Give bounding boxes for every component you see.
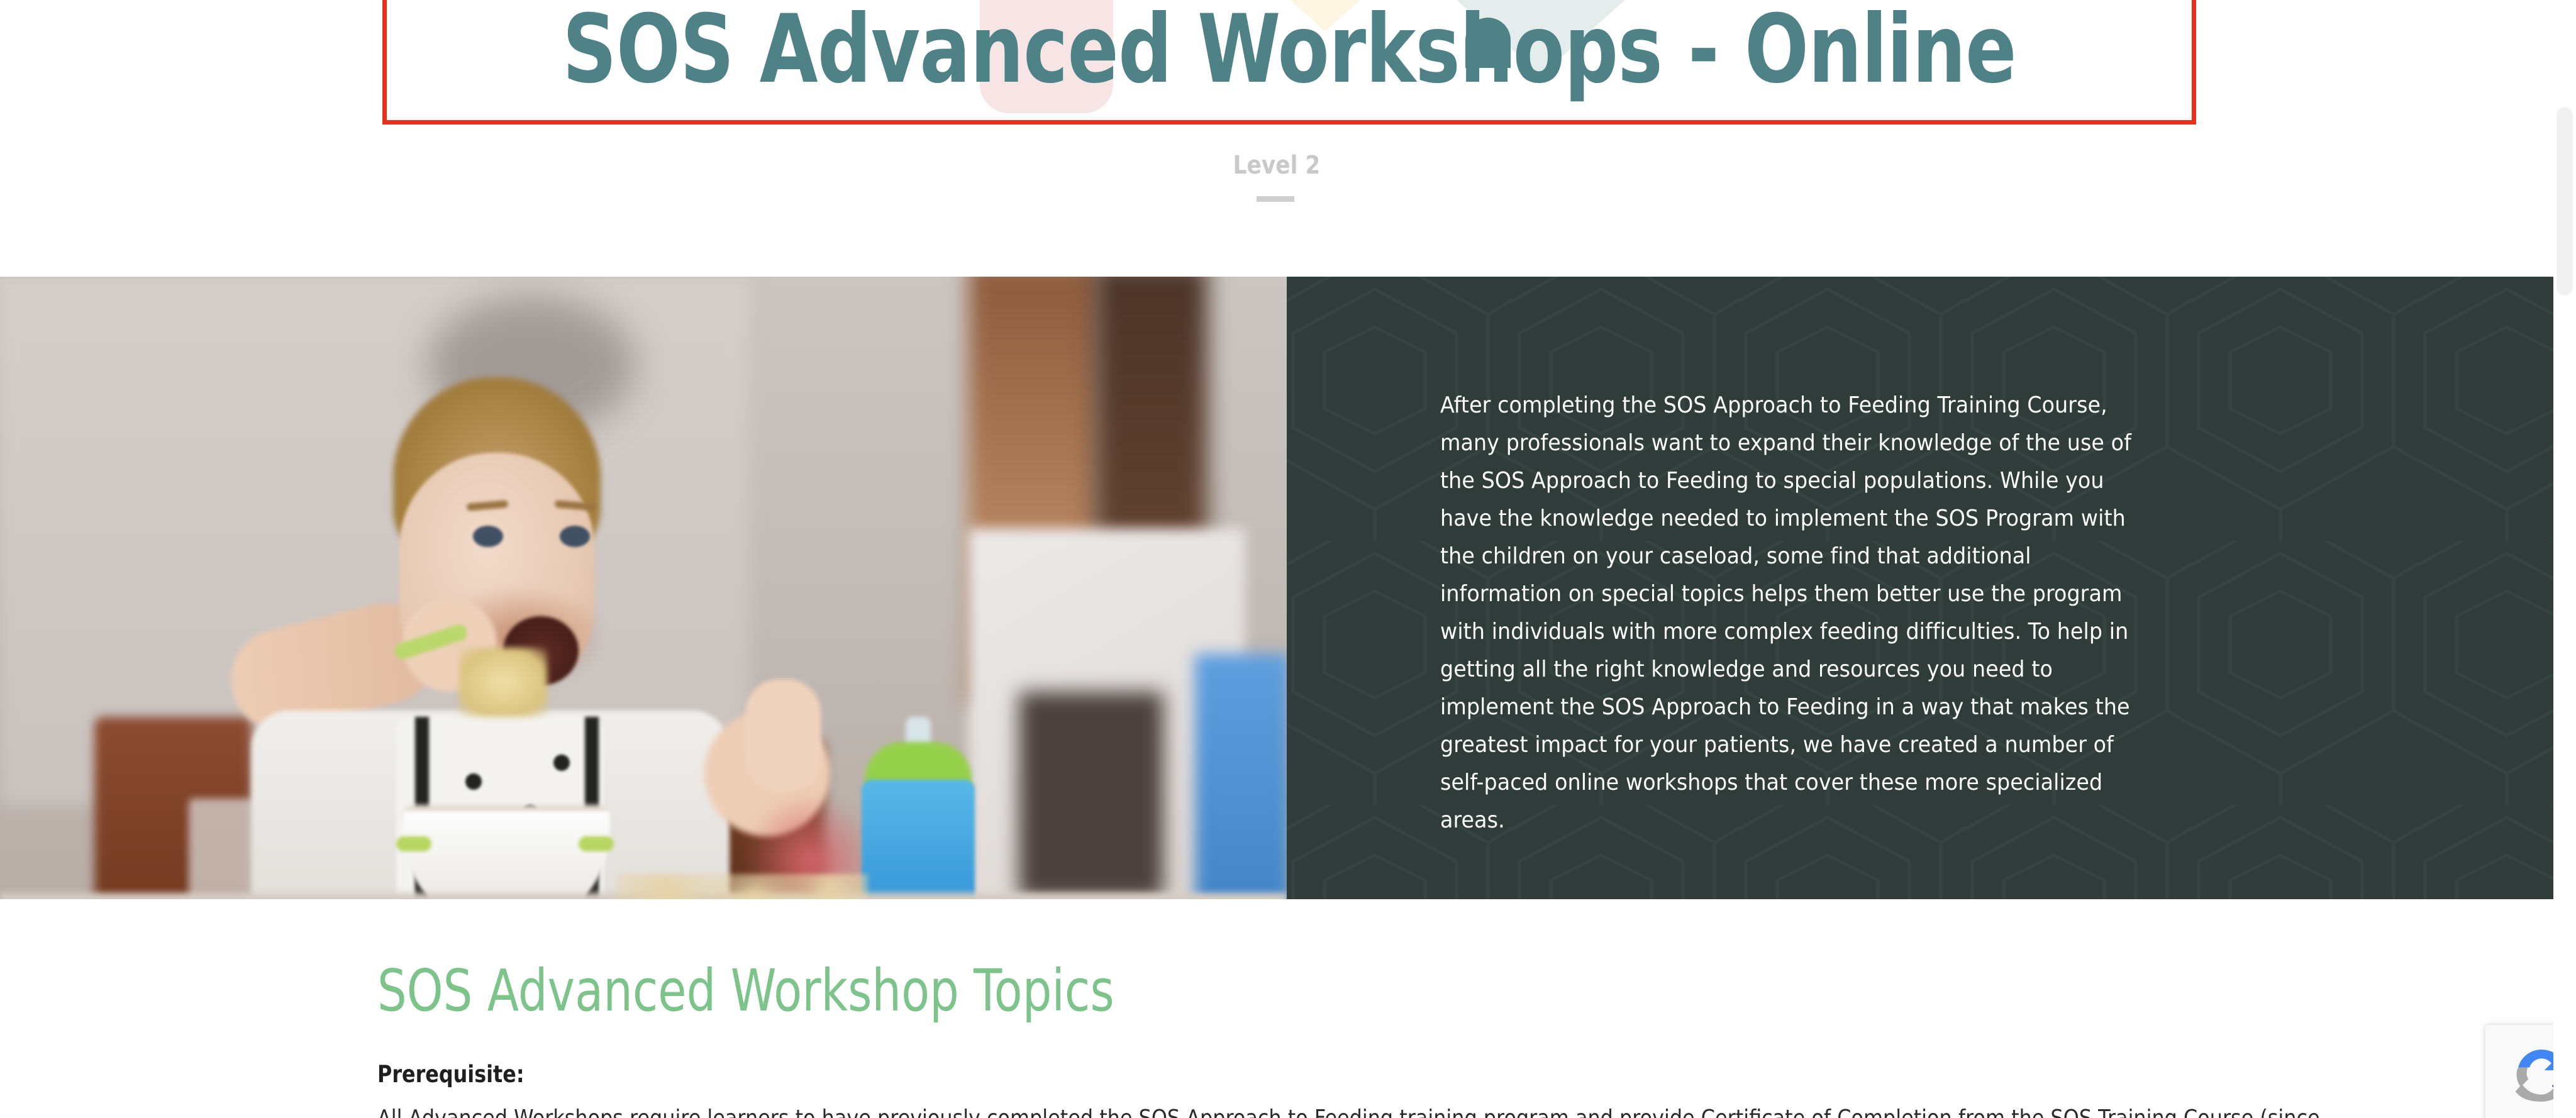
feeding-photo (0, 277, 1287, 899)
topics-heading: SOS Advanced Workshop Topics (377, 962, 1114, 1020)
intro-paragraph: After completing the SOS Approach to Fee… (1440, 387, 2144, 839)
intro-panel: After completing the SOS Approach to Fee… (1287, 277, 2576, 899)
page-title: SOS Advanced Workshops - Online (563, 0, 2014, 125)
scrollbar-track[interactable] (2553, 0, 2576, 1118)
scrollbar-thumb[interactable] (2557, 107, 2573, 296)
prerequisite-label: Prerequisite: (377, 1063, 525, 1086)
hero-split-section: After completing the SOS Approach to Fee… (0, 277, 2576, 899)
level-label: Level 2 (179, 151, 2375, 180)
level-divider (1257, 196, 1294, 202)
page-root: SOS Advanced Workshops - Online Level 2 (0, 0, 2576, 1118)
prerequisite-text: All Advanced Workshops require learners … (377, 1100, 2270, 1118)
